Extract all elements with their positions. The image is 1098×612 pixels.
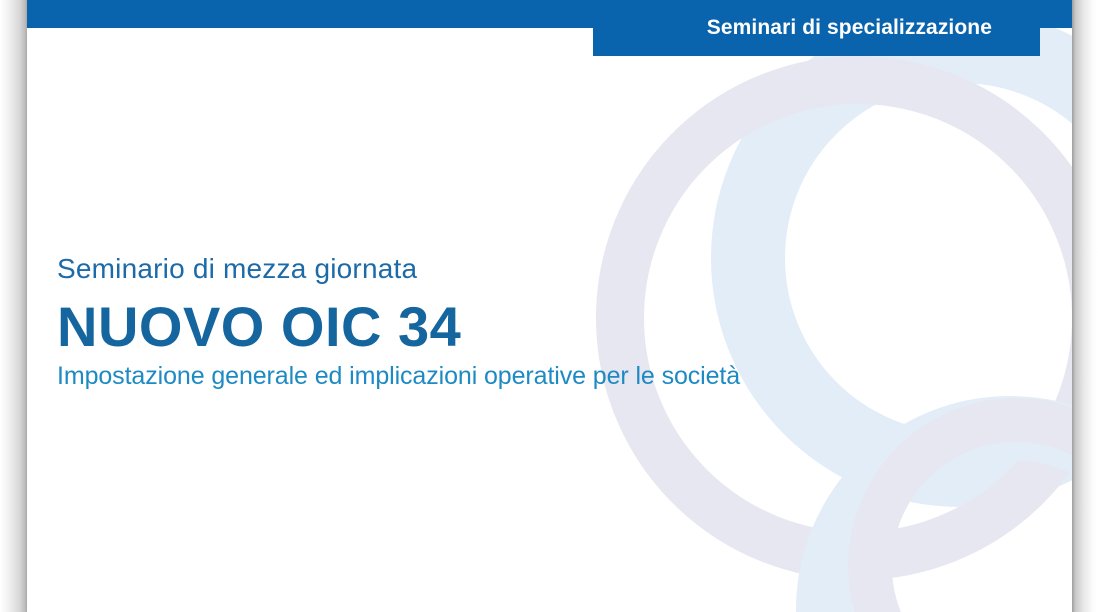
page-fold-left-shadow — [0, 0, 27, 612]
brochure-cover: Seminari di specializzazione Seminario d… — [0, 0, 1098, 612]
header-band-label: Seminari di specializzazione — [707, 16, 992, 40]
ring-lightblue-upper — [748, 46, 1072, 470]
ring-lightblue-lower — [828, 428, 1072, 612]
seminar-kicker: Seminario di mezza giornata — [57, 254, 740, 285]
title-block: Seminario di mezza giornata NUOVO OIC 34… — [57, 254, 740, 390]
ring-lavender-bottom — [870, 420, 1072, 612]
page-subtitle: Impostazione generale ed implicazioni op… — [57, 363, 740, 391]
header-band: Seminari di specializzazione — [593, 0, 1040, 56]
page-title: NUOVO OIC 34 — [57, 299, 740, 355]
page-fold-right-shadow — [1072, 0, 1098, 612]
